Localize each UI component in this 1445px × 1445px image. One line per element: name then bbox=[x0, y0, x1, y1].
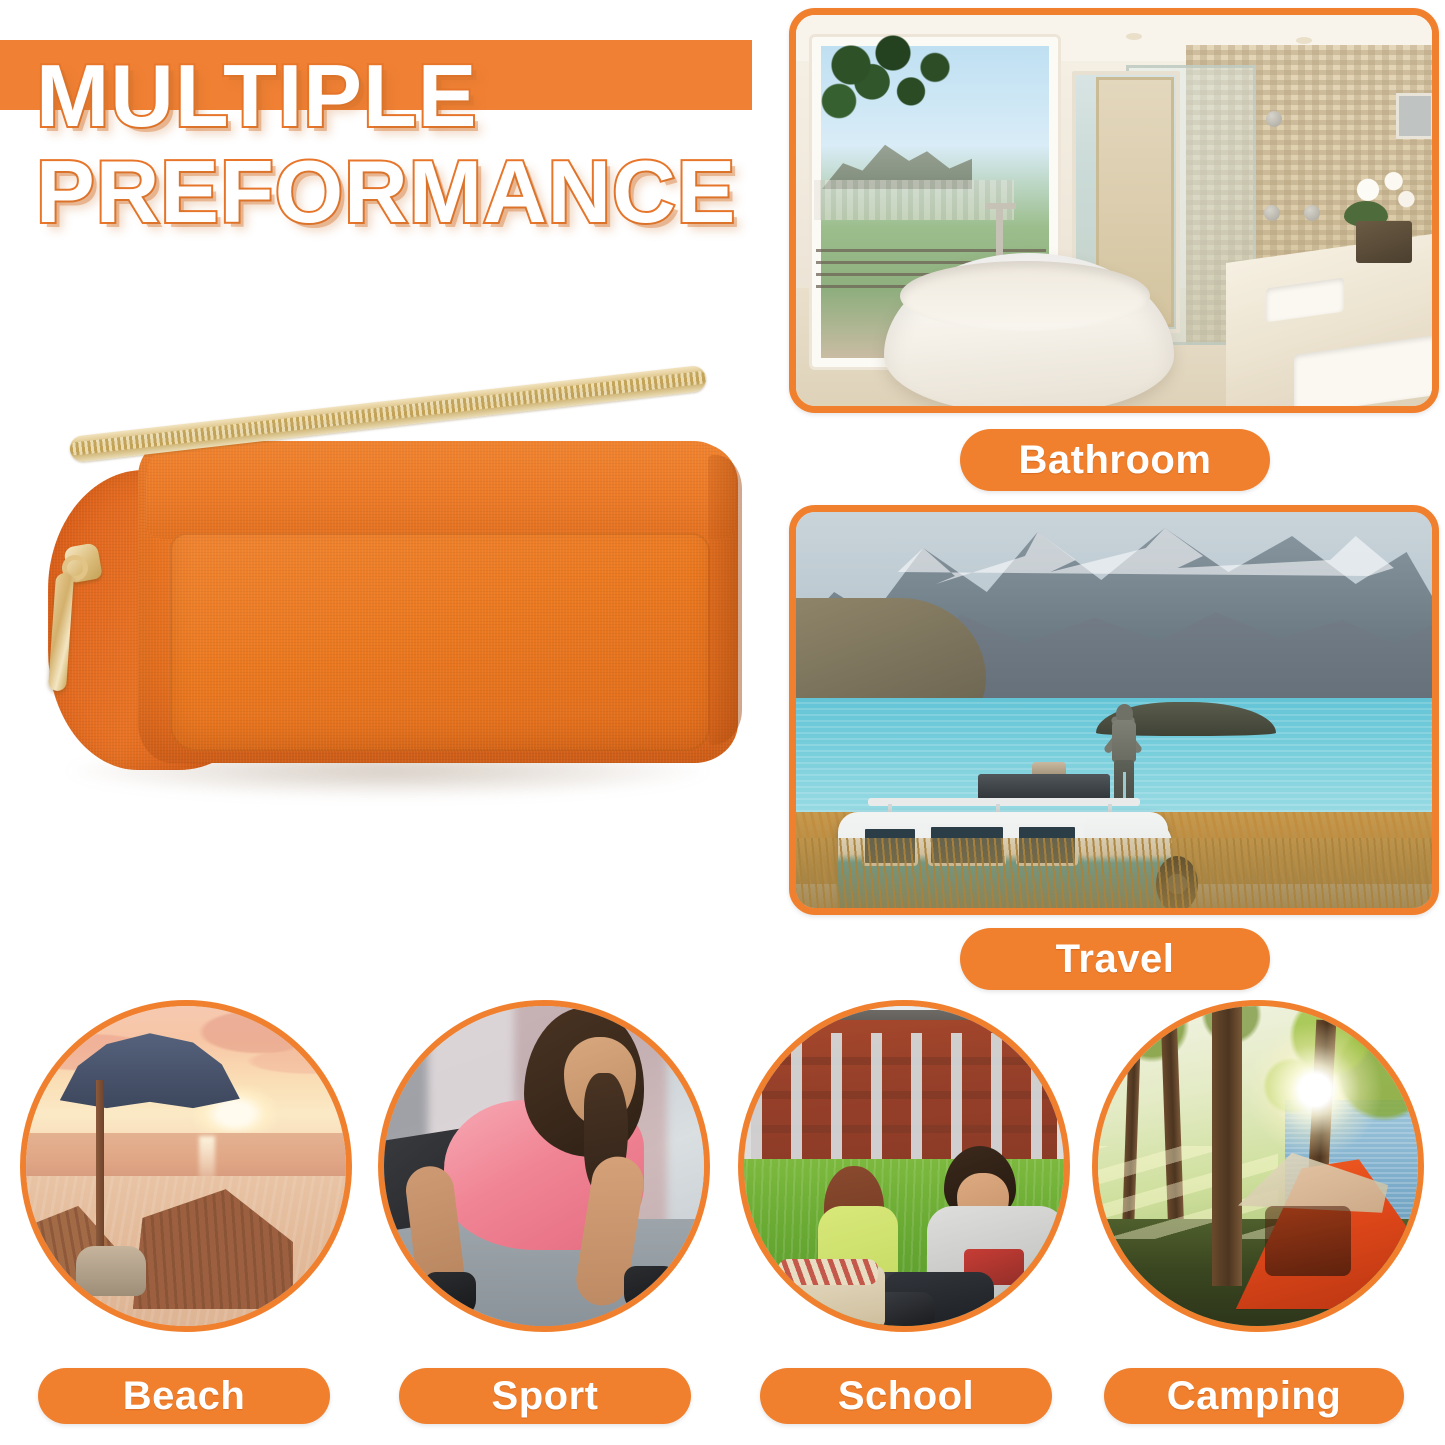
use-case-label-school: School bbox=[760, 1368, 1052, 1424]
use-case-label-camping: Camping bbox=[1104, 1368, 1404, 1424]
wall-tv bbox=[1396, 93, 1434, 139]
headline-line-primary: MULTIPLE bbox=[36, 52, 477, 140]
scene-photo-bathroom bbox=[789, 8, 1439, 413]
use-case-label-sport: Sport bbox=[399, 1368, 691, 1424]
use-case-label-beach: Beach bbox=[38, 1368, 330, 1424]
product-image-pencil-case bbox=[18, 415, 778, 845]
headline-block: MULTIPLE PREFORMANCE bbox=[0, 0, 800, 260]
use-case-photo-school bbox=[738, 1000, 1070, 1332]
scene-photo-travel bbox=[789, 505, 1439, 915]
scene-label-bathroom: Bathroom bbox=[960, 429, 1270, 491]
product-right-edge bbox=[708, 455, 742, 745]
sun-flare-icon bbox=[1245, 1020, 1385, 1160]
use-case-photo-camping bbox=[1092, 1000, 1424, 1332]
product-top-lid bbox=[146, 441, 736, 539]
use-case-photo-beach bbox=[20, 1000, 352, 1332]
scene-label-travel: Travel bbox=[960, 928, 1270, 990]
product-front-panel bbox=[170, 533, 710, 751]
headline-line-secondary: PREFORMANCE bbox=[36, 148, 736, 236]
use-case-photo-sport bbox=[378, 1000, 710, 1332]
